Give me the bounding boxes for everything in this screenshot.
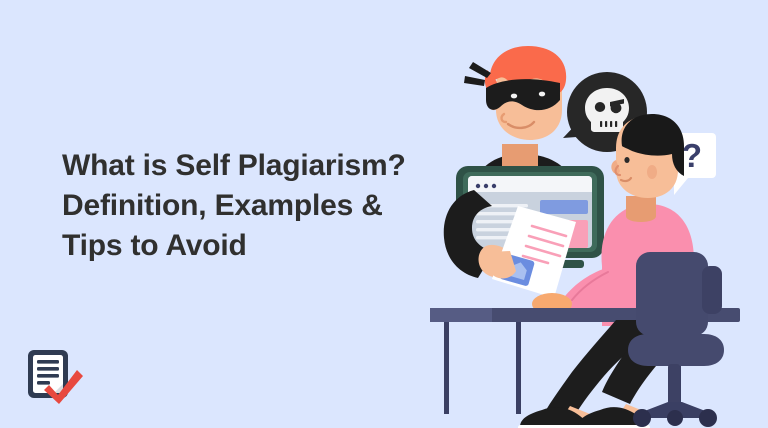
office-chair <box>628 252 724 427</box>
screen-blue-block <box>540 200 588 214</box>
page-title-line-3: Tips to Avoid <box>62 226 432 266</box>
plagiarism-thief-illustration: ? <box>430 20 768 428</box>
page-title-line-2: Definition, Examples & <box>62 186 432 226</box>
banner-canvas: What is Self Plagiarism? Definition, Exa… <box>0 0 768 428</box>
document-check-logo[interactable] <box>22 348 90 406</box>
browser-dots <box>476 184 496 188</box>
page-title-line-1: What is Self Plagiarism? <box>62 146 432 186</box>
question-mark-glyph: ? <box>682 137 702 174</box>
page-title: What is Self Plagiarism? Definition, Exa… <box>62 146 432 266</box>
